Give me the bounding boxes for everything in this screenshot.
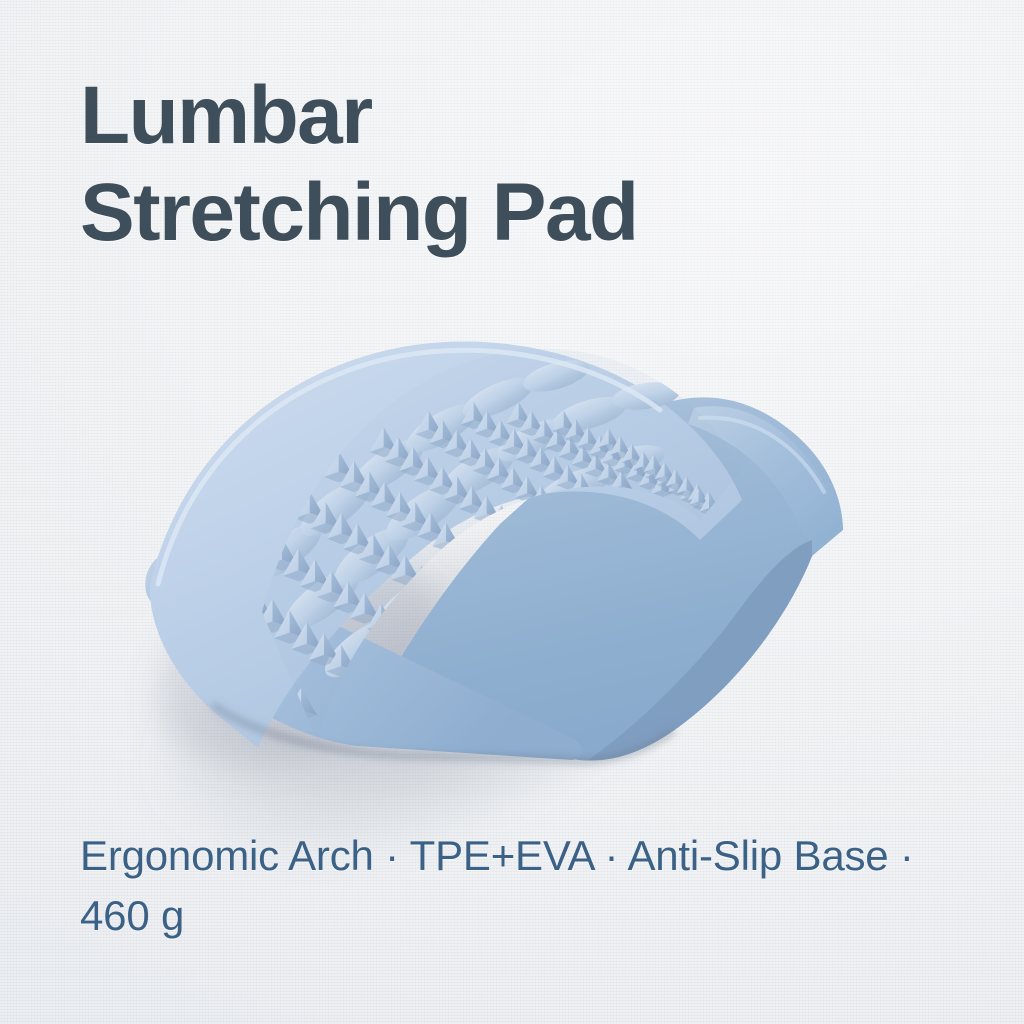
- product-hero-image: Lumbar Stretching Pad Ergonomic Arch · T…: [0, 0, 1024, 1024]
- page-title: Lumbar Stretching Pad: [80, 68, 940, 262]
- product-specs-line: Ergonomic Arch · TPE+EVA · Anti-Slip Bas…: [80, 826, 960, 945]
